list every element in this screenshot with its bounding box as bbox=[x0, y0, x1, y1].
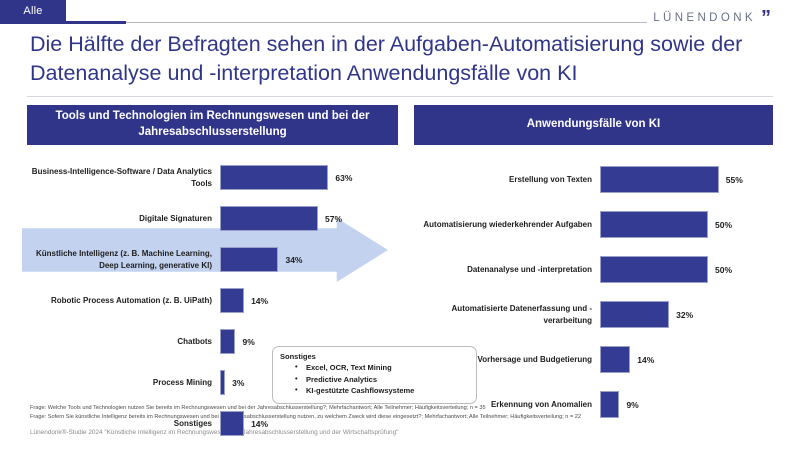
bar-category-label: Sonstiges bbox=[27, 418, 220, 430]
brand-name: LÜNENDONK bbox=[653, 11, 756, 25]
callout-item: Excel, OCR, Text Mining bbox=[306, 362, 469, 374]
bar bbox=[220, 247, 278, 272]
tab-alle[interactable]: Alle bbox=[0, 0, 66, 21]
bar-value-label: 3% bbox=[232, 378, 244, 388]
bar-value-label: 9% bbox=[626, 400, 638, 410]
callout-list: Excel, OCR, Text MiningPredictive Analyt… bbox=[280, 362, 469, 397]
bar-category-label: Automatisierung wiederkehrender Aufgaben bbox=[414, 219, 600, 231]
bar bbox=[600, 391, 619, 418]
bar-value-label: 14% bbox=[637, 355, 654, 365]
quote-mark-icon: ” bbox=[761, 11, 770, 25]
tab-alle-label: Alle bbox=[23, 5, 42, 17]
header-divider bbox=[126, 22, 647, 23]
bar-track: 14% bbox=[220, 288, 398, 313]
bar-track: 14% bbox=[600, 346, 773, 373]
bar-category-label: Digitale Signaturen bbox=[27, 213, 220, 225]
headline-divider bbox=[27, 96, 773, 97]
sonstiges-callout: Sonstiges Excel, OCR, Text MiningPredict… bbox=[272, 346, 477, 404]
bar-value-label: 9% bbox=[242, 337, 254, 347]
bar bbox=[600, 301, 669, 328]
bar-category-label: Erstellung von Texten bbox=[414, 174, 600, 186]
chart-bar-row: Sonstiges14% bbox=[27, 403, 398, 444]
chart-bar-row: Business-Intelligence-Software / Data An… bbox=[27, 157, 398, 198]
bar bbox=[220, 288, 244, 313]
callout-item: KI-gestützte Cashflowsysteme bbox=[306, 385, 469, 397]
chart-bar-row: Datenanalyse und -interpretation50% bbox=[414, 247, 773, 292]
bar bbox=[600, 256, 708, 283]
bar bbox=[600, 211, 708, 238]
bar-value-label: 14% bbox=[251, 296, 268, 306]
panel-right-title: Anwendungsfälle von KI bbox=[414, 105, 773, 145]
bar bbox=[220, 370, 225, 395]
bar bbox=[600, 166, 719, 193]
bar-track: 14% bbox=[220, 411, 398, 436]
chart-bar-row: Künstliche Intelligenz (z. B. Machine Le… bbox=[27, 239, 398, 280]
page-title: Die Hälfte der Befragten sehen in der Au… bbox=[30, 30, 770, 87]
chart-bar-row: Robotic Process Automation (z. B. UiPath… bbox=[27, 280, 398, 321]
bar bbox=[220, 329, 235, 354]
bar bbox=[220, 206, 318, 231]
bar-track: 57% bbox=[220, 206, 398, 231]
bar-category-label: Künstliche Intelligenz (z. B. Machine Le… bbox=[27, 248, 220, 272]
chart-bar-row: Erstellung von Texten55% bbox=[414, 157, 773, 202]
bar-category-label: Process Mining bbox=[27, 377, 220, 389]
bar-track: 55% bbox=[600, 166, 773, 193]
bar-value-label: 63% bbox=[335, 173, 352, 183]
bar-value-label: 50% bbox=[715, 265, 732, 275]
bar-value-label: 14% bbox=[251, 419, 268, 429]
bar bbox=[220, 411, 244, 436]
callout-title: Sonstiges bbox=[280, 352, 469, 361]
panel-left-title: Tools und Technologien im Rechnungswesen… bbox=[27, 105, 398, 145]
bar-track: 50% bbox=[600, 256, 773, 283]
chart-bar-row: Automatisierte Datenerfassung und -verar… bbox=[414, 292, 773, 337]
brand-logo: LÜNENDONK ” bbox=[653, 11, 770, 25]
bar-track: 34% bbox=[220, 247, 398, 272]
bar-category-label: Automatisierte Datenerfassung und -verar… bbox=[414, 303, 600, 327]
bar bbox=[220, 165, 328, 190]
bar-track: 32% bbox=[600, 301, 773, 328]
bar bbox=[600, 346, 630, 373]
bar-value-label: 32% bbox=[676, 310, 693, 320]
bar-category-label: Chatbots bbox=[27, 336, 220, 348]
bar-value-label: 50% bbox=[715, 220, 732, 230]
bar-category-label: Robotic Process Automation (z. B. UiPath… bbox=[27, 295, 220, 307]
tab-underline bbox=[0, 21, 126, 24]
bar-category-label: Business-Intelligence-Software / Data An… bbox=[27, 166, 220, 190]
bar-track: 9% bbox=[600, 391, 773, 418]
bar-track: 50% bbox=[600, 211, 773, 238]
chart-bar-row: Automatisierung wiederkehrender Aufgaben… bbox=[414, 202, 773, 247]
chart-bar-row: Digitale Signaturen57% bbox=[27, 198, 398, 239]
bar-value-label: 55% bbox=[726, 175, 743, 185]
bar-track: 63% bbox=[220, 165, 398, 190]
callout-item: Predictive Analytics bbox=[306, 374, 469, 386]
bar-value-label: 57% bbox=[325, 214, 342, 224]
bar-category-label: Datenanalyse und -interpretation bbox=[414, 264, 600, 276]
bar-value-label: 34% bbox=[285, 255, 302, 265]
slide-canvas: Alle LÜNENDONK ” Die Hälfte der Befragte… bbox=[0, 0, 800, 449]
